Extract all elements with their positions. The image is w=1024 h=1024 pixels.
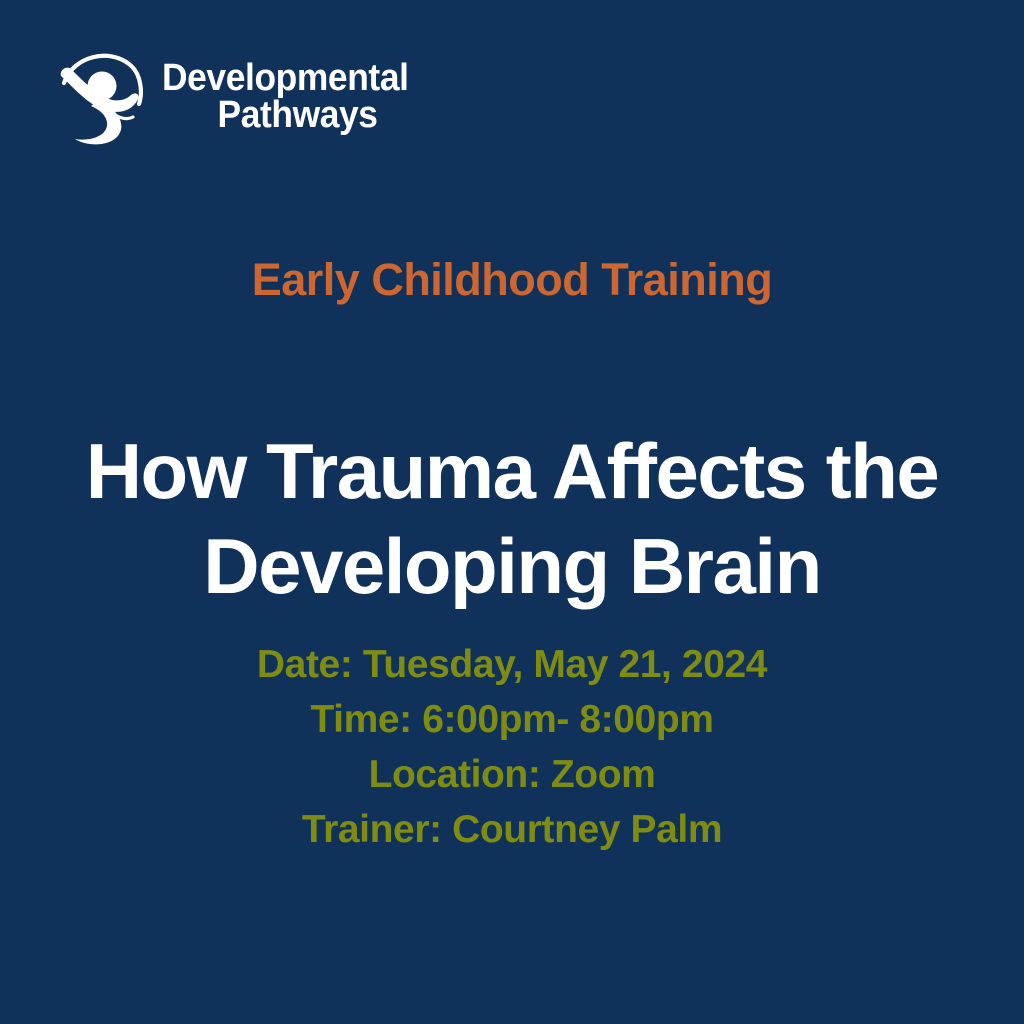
detail-trainer: Trainer: Courtney Palm xyxy=(0,803,1024,858)
headline-line-2: Developing Brain xyxy=(0,519,1024,614)
brand-wordmark-line-2: Pathways xyxy=(177,97,418,134)
detail-time: Time: 6:00pm- 8:00pm xyxy=(0,693,1024,748)
eyebrow-label: Early Childhood Training xyxy=(0,256,1024,303)
headline-line-1: How Trauma Affects the xyxy=(0,424,1024,519)
detail-location: Location: Zoom xyxy=(0,748,1024,803)
event-details: Date: Tuesday, May 21, 2024 Time: 6:00pm… xyxy=(0,638,1024,858)
brand-wordmark-line-1: Developmental xyxy=(162,60,409,97)
event-flyer: Developmental Pathways Early Childhood T… xyxy=(0,0,1024,1024)
brand-wordmark: Developmental Pathways xyxy=(162,58,427,134)
page-title: How Trauma Affects the Developing Brain xyxy=(0,424,1024,614)
developmental-pathways-figure-logo-icon xyxy=(57,47,153,145)
detail-date: Date: Tuesday, May 21, 2024 xyxy=(0,638,1024,693)
brand-logo-lockup[interactable]: Developmental Pathways xyxy=(57,47,427,145)
